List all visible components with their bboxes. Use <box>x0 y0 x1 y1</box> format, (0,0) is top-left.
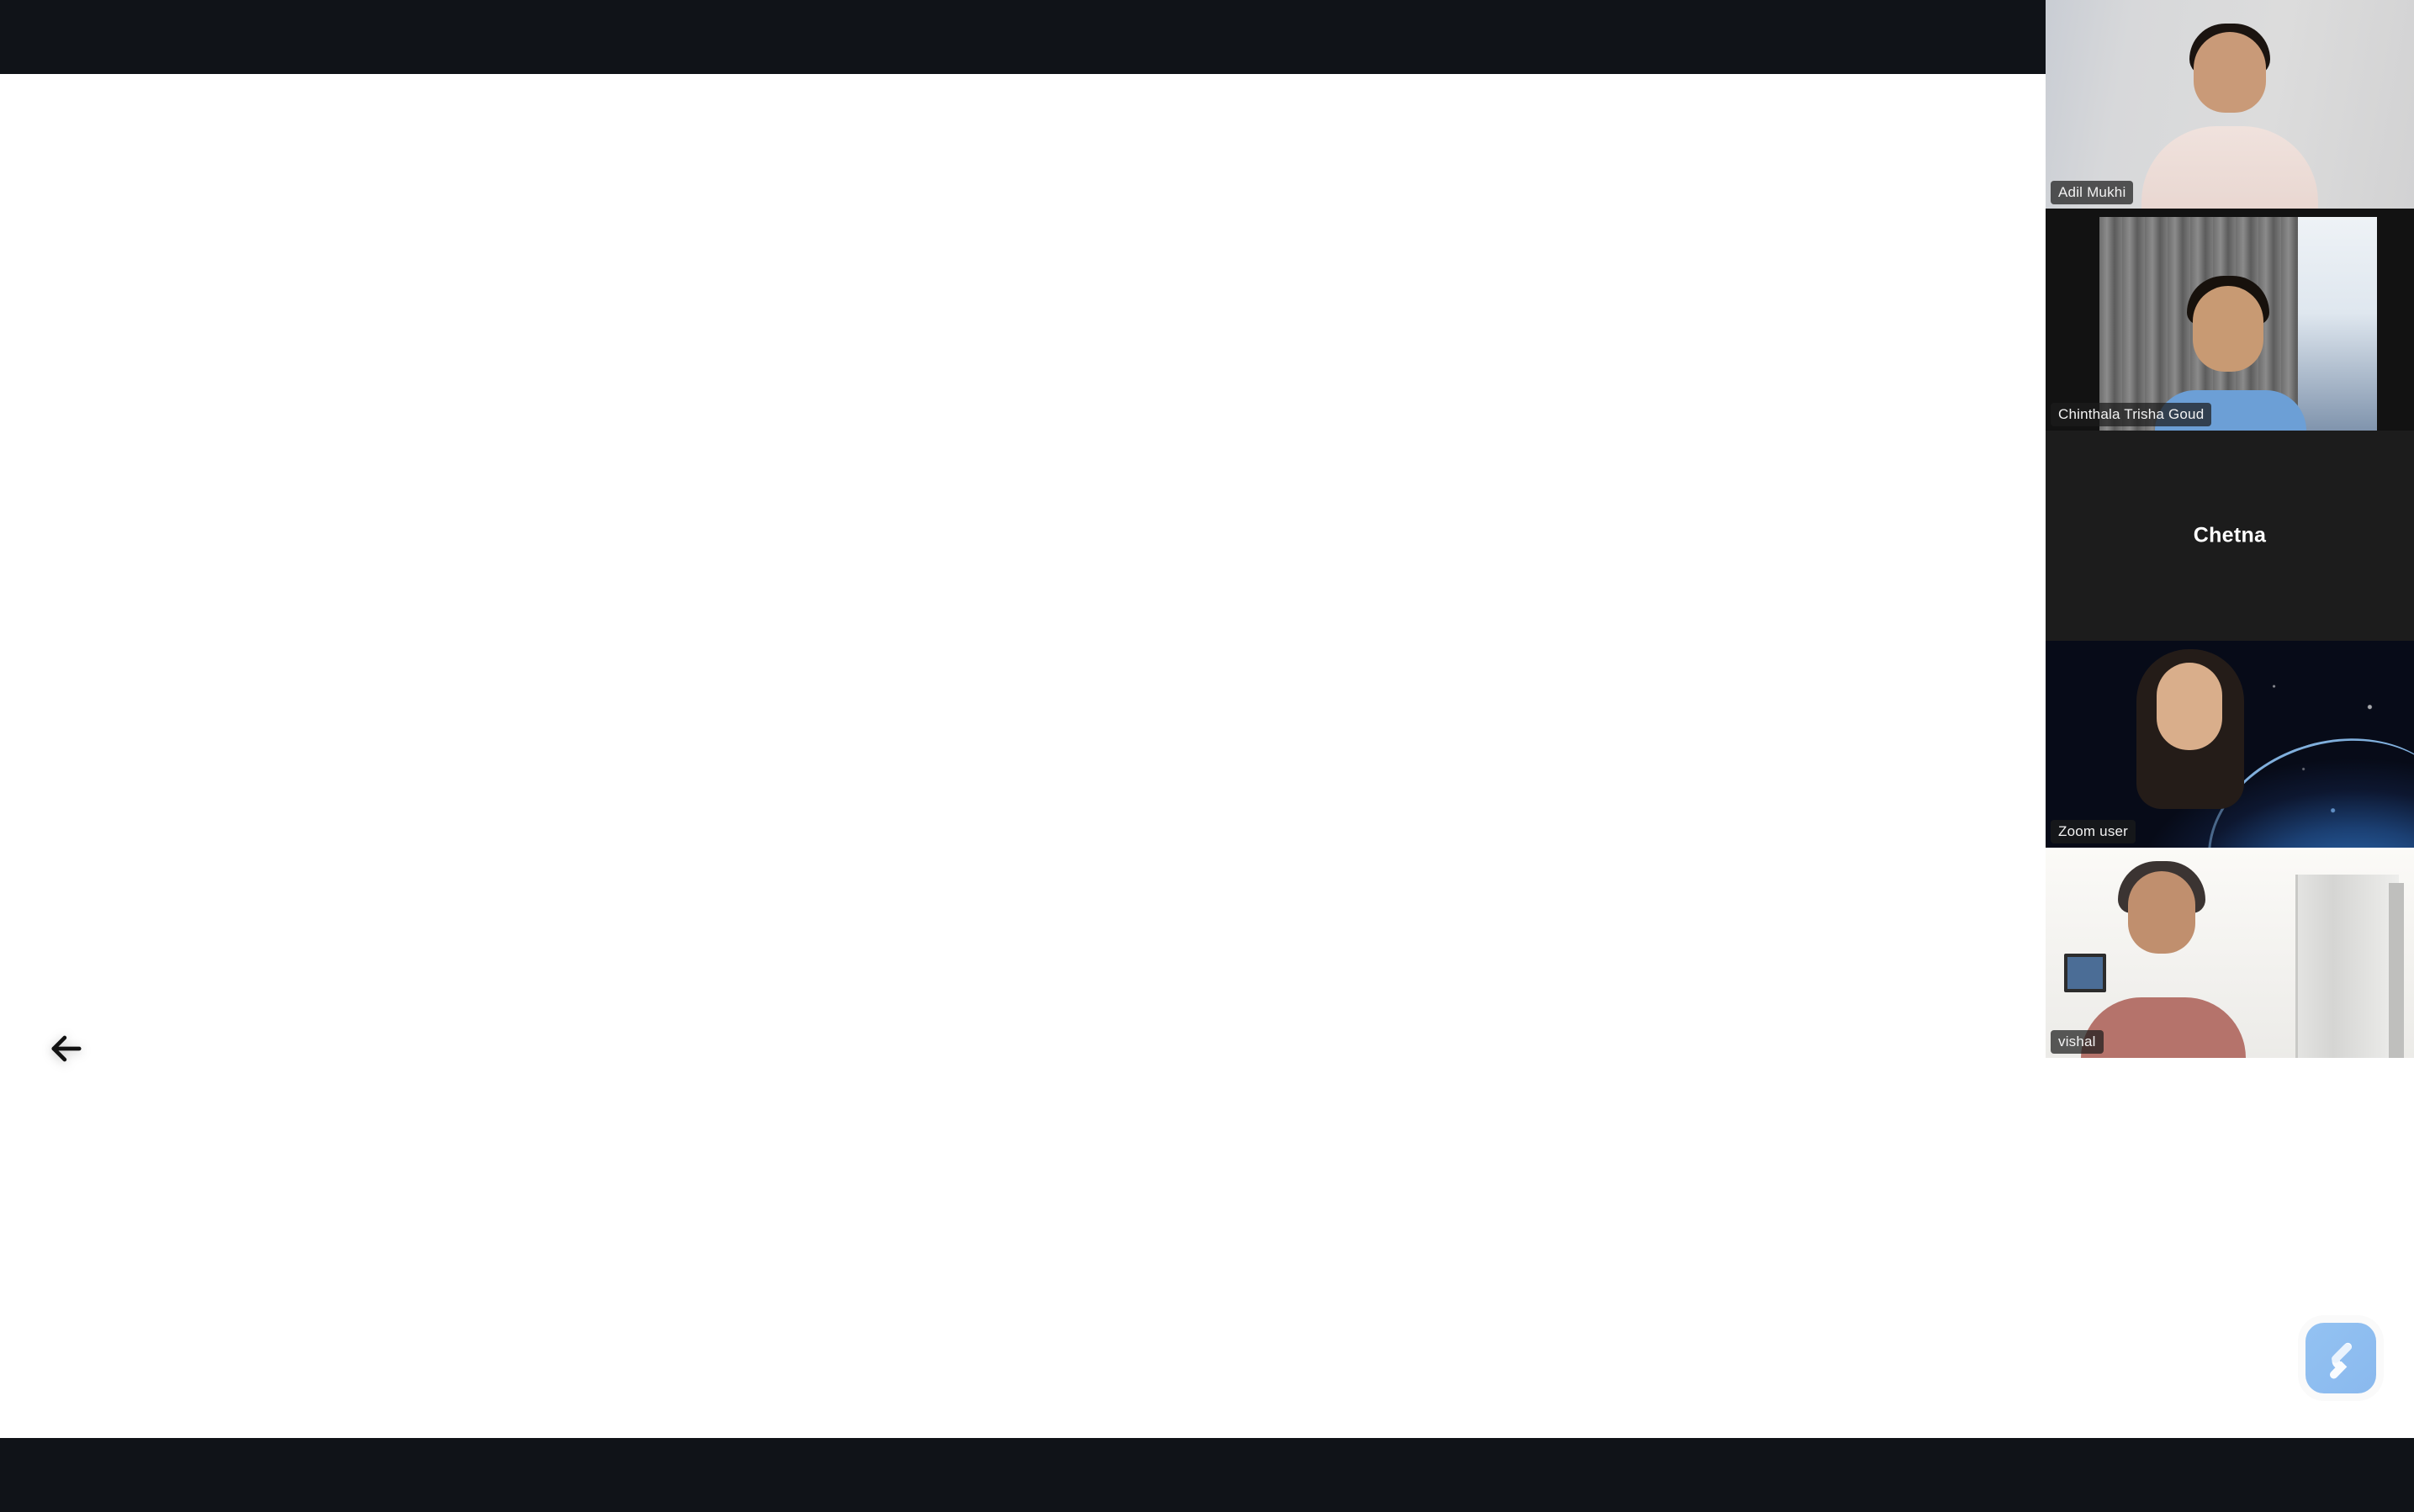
avatar <box>2193 286 2263 372</box>
video-background <box>2298 217 2377 431</box>
video-background <box>2295 875 2399 1058</box>
participant-video-strip[interactable]: Adil Mukhi Chinthala Trisha Goud Chetna … <box>2046 0 2414 1058</box>
participant-name-label: Zoom user <box>2051 820 2136 843</box>
avatar <box>2128 871 2195 954</box>
bottom-letterbox-bar <box>0 1438 2414 1512</box>
brand-badge-icon[interactable] <box>2305 1323 2376 1393</box>
video-background <box>2389 883 2404 1058</box>
participant-tile[interactable]: Zoom user <box>2046 641 2414 848</box>
zoom-meeting-screen: Protocol & Study Design (Step-by-S 1. Se… <box>0 0 2414 1512</box>
participant-tile[interactable]: Adil Mukhi <box>2046 0 2414 209</box>
video-background <box>2064 954 2106 992</box>
avatar <box>2194 32 2266 113</box>
participant-name-label: Chinthala Trisha Goud <box>2051 403 2211 426</box>
participant-name-label: Adil Mukhi <box>2051 181 2133 204</box>
participant-name-label: Chetna <box>2046 524 2414 548</box>
avatar <box>2157 663 2222 750</box>
participant-tile[interactable]: vishal <box>2046 849 2414 1058</box>
back-arrow-icon[interactable] <box>35 1018 98 1080</box>
participant-name-label: vishal <box>2051 1030 2104 1054</box>
participant-tile[interactable]: Chinthala Trisha Goud <box>2046 209 2414 431</box>
participant-tile[interactable]: Chetna <box>2046 431 2414 641</box>
